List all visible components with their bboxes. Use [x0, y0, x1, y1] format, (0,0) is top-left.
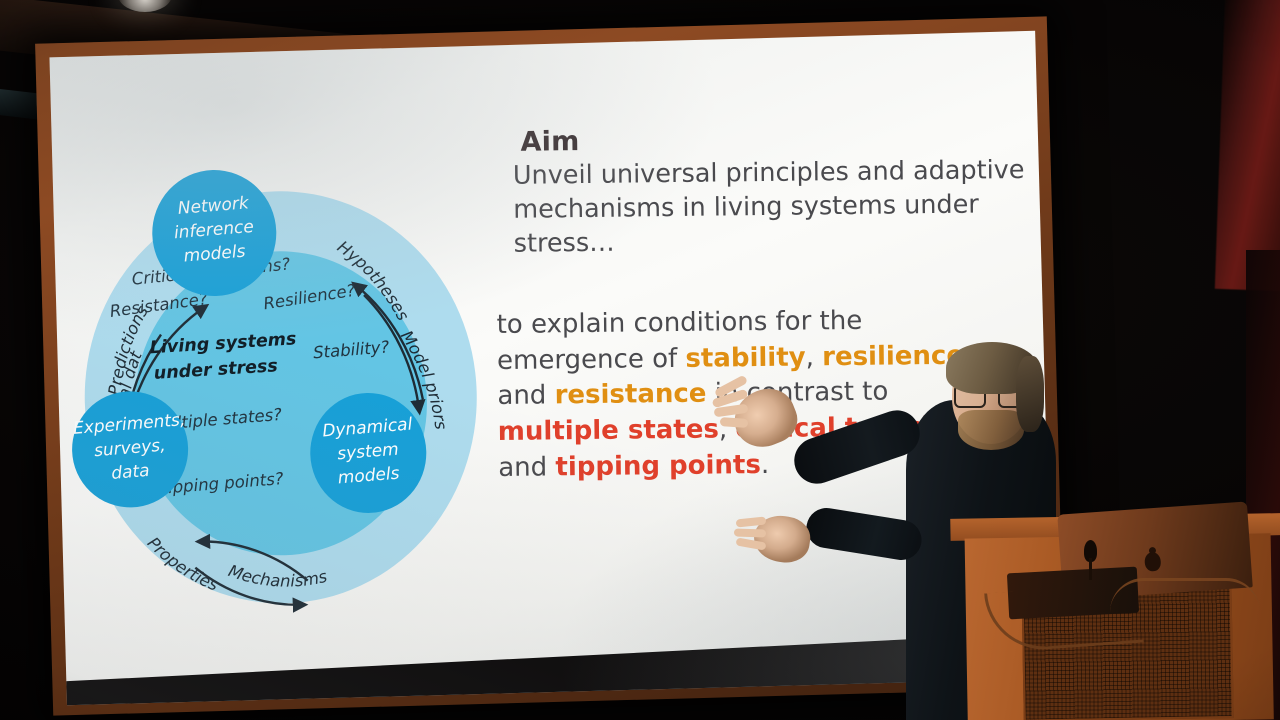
speaker-beard [958, 410, 1024, 450]
finger [720, 417, 749, 428]
expl-period: . [761, 450, 770, 480]
term-resistance: resistance [554, 379, 706, 411]
cycle-diagram: Predictions Relational data Hypotheses M… [60, 130, 503, 641]
finger [734, 528, 766, 537]
expl-comma-1: , [805, 342, 822, 372]
expl-line2-plain: emergence of [497, 343, 686, 375]
expl-line5-plain: and [498, 453, 556, 484]
term-multiple-states: multiple states [498, 415, 719, 448]
stage-curtain-upper [1215, 0, 1280, 291]
apple-logo-icon [1144, 552, 1161, 572]
term-stability: stability [685, 342, 806, 373]
cable-secondary [1110, 578, 1260, 612]
aim-heading: Aim [520, 121, 1046, 158]
term-tipping-points: tipping points [555, 450, 761, 482]
expl-line1: to explain conditions for the [496, 306, 862, 340]
aim-paragraph: Unveil universal principles and adaptive… [513, 154, 1048, 262]
node-experiments-label-3: data [111, 461, 151, 484]
lecture-hall-photo: Predictions Relational data Hypotheses M… [0, 0, 1280, 720]
expl-line3-plain-a: and [497, 381, 555, 412]
microphone-stem [1089, 558, 1092, 580]
speaker-hair-side [1016, 356, 1044, 432]
